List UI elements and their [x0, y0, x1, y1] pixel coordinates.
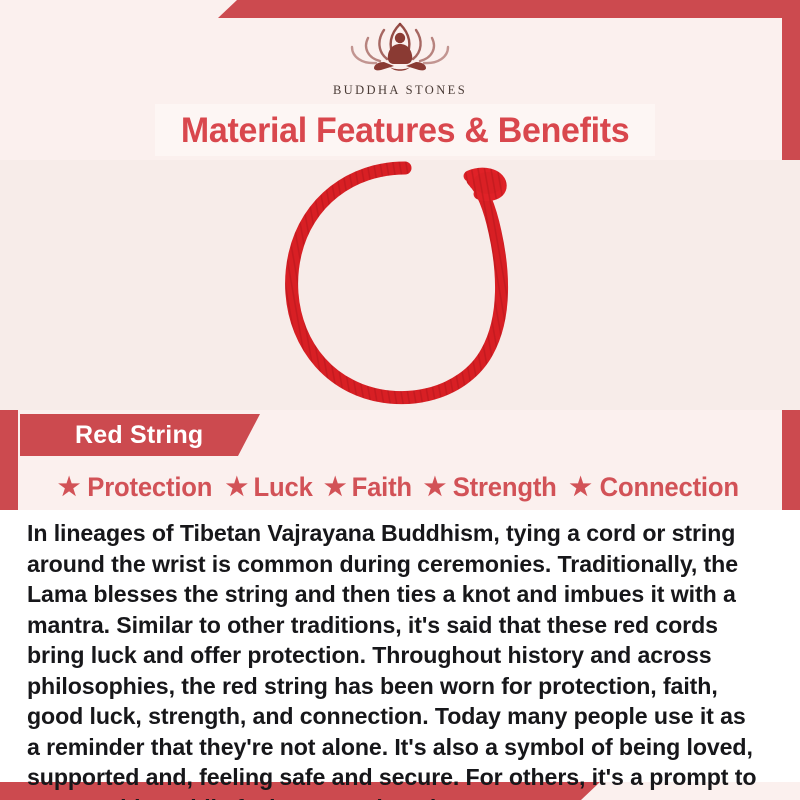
star-icon: ★: [424, 475, 446, 500]
description-panel: In lineages of Tibetan Vajrayana Buddhis…: [0, 510, 800, 782]
infographic-page: BUDDHA STONES Material Features & Benefi…: [0, 0, 800, 800]
title-banner: Material Features & Benefits: [155, 104, 655, 156]
feature-label: Faith: [352, 472, 412, 503]
feature-list: ★ Protection ★ Luck ★ Faith ★ Strength ★…: [0, 466, 800, 508]
page-title: Material Features & Benefits: [181, 113, 629, 148]
feature-item-strength: ★ Strength: [421, 472, 563, 503]
star-icon: ★: [569, 475, 591, 500]
feature-label: Luck: [253, 472, 312, 503]
feature-item-connection: ★ Connection: [566, 472, 745, 503]
feature-item-luck: ★ Luck: [223, 472, 317, 503]
brand-name: BUDDHA STONES: [333, 83, 467, 98]
product-image-area: [0, 160, 800, 410]
product-tag: Red String: [20, 414, 260, 456]
red-braided-cord-loop: [255, 150, 555, 425]
brand-logo: BUDDHA STONES: [0, 14, 800, 100]
feature-item-faith: ★ Faith: [321, 472, 417, 503]
product-tag-label: Red String: [75, 421, 203, 450]
description-paragraph: In lineages of Tibetan Vajrayana Buddhis…: [27, 518, 759, 800]
feature-label: Strength: [453, 472, 557, 503]
star-icon: ★: [58, 475, 80, 500]
feature-item-protection: ★ Protection: [55, 472, 219, 503]
star-icon: ★: [226, 475, 248, 500]
lotus-meditation-icon: [324, 14, 476, 81]
star-icon: ★: [324, 475, 346, 500]
feature-label: Protection: [87, 472, 212, 503]
feature-label: Connection: [599, 472, 738, 503]
